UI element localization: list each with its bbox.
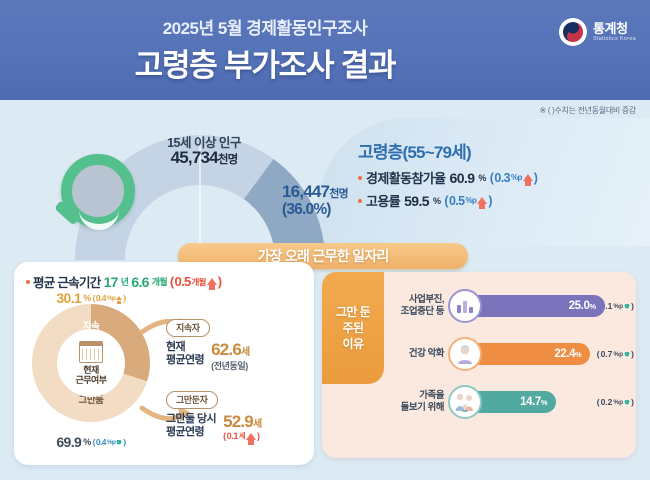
bullet-icon [358,199,362,203]
taeguk-icon [559,18,587,46]
donut-bottom-pct: 69.9% (0.4%p) [26,434,156,450]
longest-job-card: 평균 근속기간 17년 6.6개월 (0.5개월) 30.1% (0.4%p) … [14,262,314,465]
quit-reasons-tab: 그만 둔 주된 이유 [322,272,384,384]
elder-stat-name: 경제활동참가율 [366,168,446,187]
logo-text-english: Statistics Korea [593,37,636,43]
statistics-korea-logo: 통계청 Statistics Korea [559,18,636,46]
bullet-icon [358,176,362,180]
reason-bar-row: 건강 악화 22.4% (0.7%p) [388,330,634,378]
quit-reasons-bar-chart: 사업부진,조업중단 등 25.0% (0.1%p) 건강 악화 [388,282,634,426]
donut-center: 현재근무여부 [57,329,125,397]
continue-worker-value: 62.6세 [211,341,249,359]
donut-center-label: 현재근무여부 [75,365,106,386]
elder-title: 고령층(55~79세) [358,138,648,163]
reason-bar-track: 22.4% [448,343,591,365]
family-care-icon [448,385,482,419]
elderly-person-icon [448,337,482,371]
quit-worker-label: 그만둘 당시평균연령 [166,413,216,441]
reason-bar-fill: 25.0% [462,295,605,317]
continue-worker-note: (전년동일) [211,359,249,372]
reason-label: 사업부진,조업중단 등 [388,294,448,318]
quit-worker-stat: 그만둔자 그만둘 당시평균연령 52.9세 (0.1세) [166,390,326,441]
average-tenure-label: 평균 근속기간 [33,272,101,291]
donut-bottom-delta: (0.4%p) [93,437,126,447]
reason-label: 가족을돌보기 위해 [388,390,448,414]
reason-bar-track: 14.7% [448,391,591,413]
reason-bar-row: 가족을돌보기 위해 14.7% (0.2%p) [388,378,634,426]
tenure-delta: (0.5개월) [170,274,222,289]
arrow-down-icon [624,401,630,405]
arrow-up-icon [246,433,256,440]
quit-worker-delta: (0.1세) [223,431,261,441]
declining-bar-chart-icon [448,289,482,323]
elder-stat-value: 60.9 [450,170,475,186]
donut-ring: 지속 그만둠 현재근무여부 [32,304,150,422]
continue-worker-stat: 지속자 현재평균연령 62.6세 (전년동일) [166,318,326,372]
population-value: 45,734천명 [114,148,294,168]
tenure-months: 6.6 [131,274,148,290]
arrow-up-icon [523,174,533,181]
reason-bar-track: 25.0% [448,295,591,317]
elder-stat-row: 고용률 59.5% (0.5%p) [358,191,648,210]
quit-worker-value: 52.9세 [223,413,261,431]
reason-bar-row: 사업부진,조업중단 등 25.0% (0.1%p) [388,282,634,330]
arrow-down-icon [624,353,630,357]
infographic-page: 2025년 5월 경제활동인구조사 고령층 부가조사 결과 통계청 Statis… [0,0,650,480]
reason-label: 건강 악화 [388,348,448,360]
calendar-icon [79,341,103,363]
continue-worker-label: 현재평균연령 [166,341,204,369]
reason-delta: (0.7%p) [597,349,634,359]
population-panel: 15세 이상 인구 45,734천명 16,447천명 (36.0%) 고령층(… [0,100,650,250]
elder-stat-name: 고용률 [366,191,400,210]
arrow-up-icon [207,278,217,285]
continue-worker-pill: 지속자 [166,319,210,337]
reason-delta: (0.2%p) [597,397,634,407]
quit-reasons-card: 그만 둔 주된 이유 사업부진,조업중단 등 25.0% (0.1%p [322,272,636,458]
arrow-down-icon [624,305,630,309]
quit-worker-pill: 그만둔자 [166,391,218,409]
page-title: 고령층 부가조사 결과 [0,40,530,85]
header-subtitle: 2025년 5월 경제활동인구조사 [0,14,530,39]
average-tenure-row: 평균 근속기간 17년 6.6개월 (0.5개월) [26,272,221,291]
tenure-years: 17 [104,274,118,290]
page-header: 2025년 5월 경제활동인구조사 고령층 부가조사 결과 통계청 Statis… [0,0,650,100]
elder-stat-row: 경제활동참가율 60.9% (0.3%p) [358,168,648,187]
elder-stat-delta: (0.5%p) [444,194,492,208]
population-semicircle-chart: 15세 이상 인구 45,734천명 16,447천명 (36.0%) [50,110,350,260]
arrow-up-icon [116,296,122,300]
elder-stat-value: 59.5 [404,193,429,209]
elder-stat-delta: (0.3%p) [490,171,538,185]
logo-text-korean: 통계청 [593,22,636,35]
donut-top-delta: (0.4%p) [93,293,126,303]
elder-stats-block: 고령층(55~79세) 경제활동참가율 60.9% (0.3%p) 고용률 59… [358,138,648,210]
arrow-down-icon [116,441,122,445]
arrow-up-icon [477,197,487,204]
bullet-icon [26,280,30,284]
